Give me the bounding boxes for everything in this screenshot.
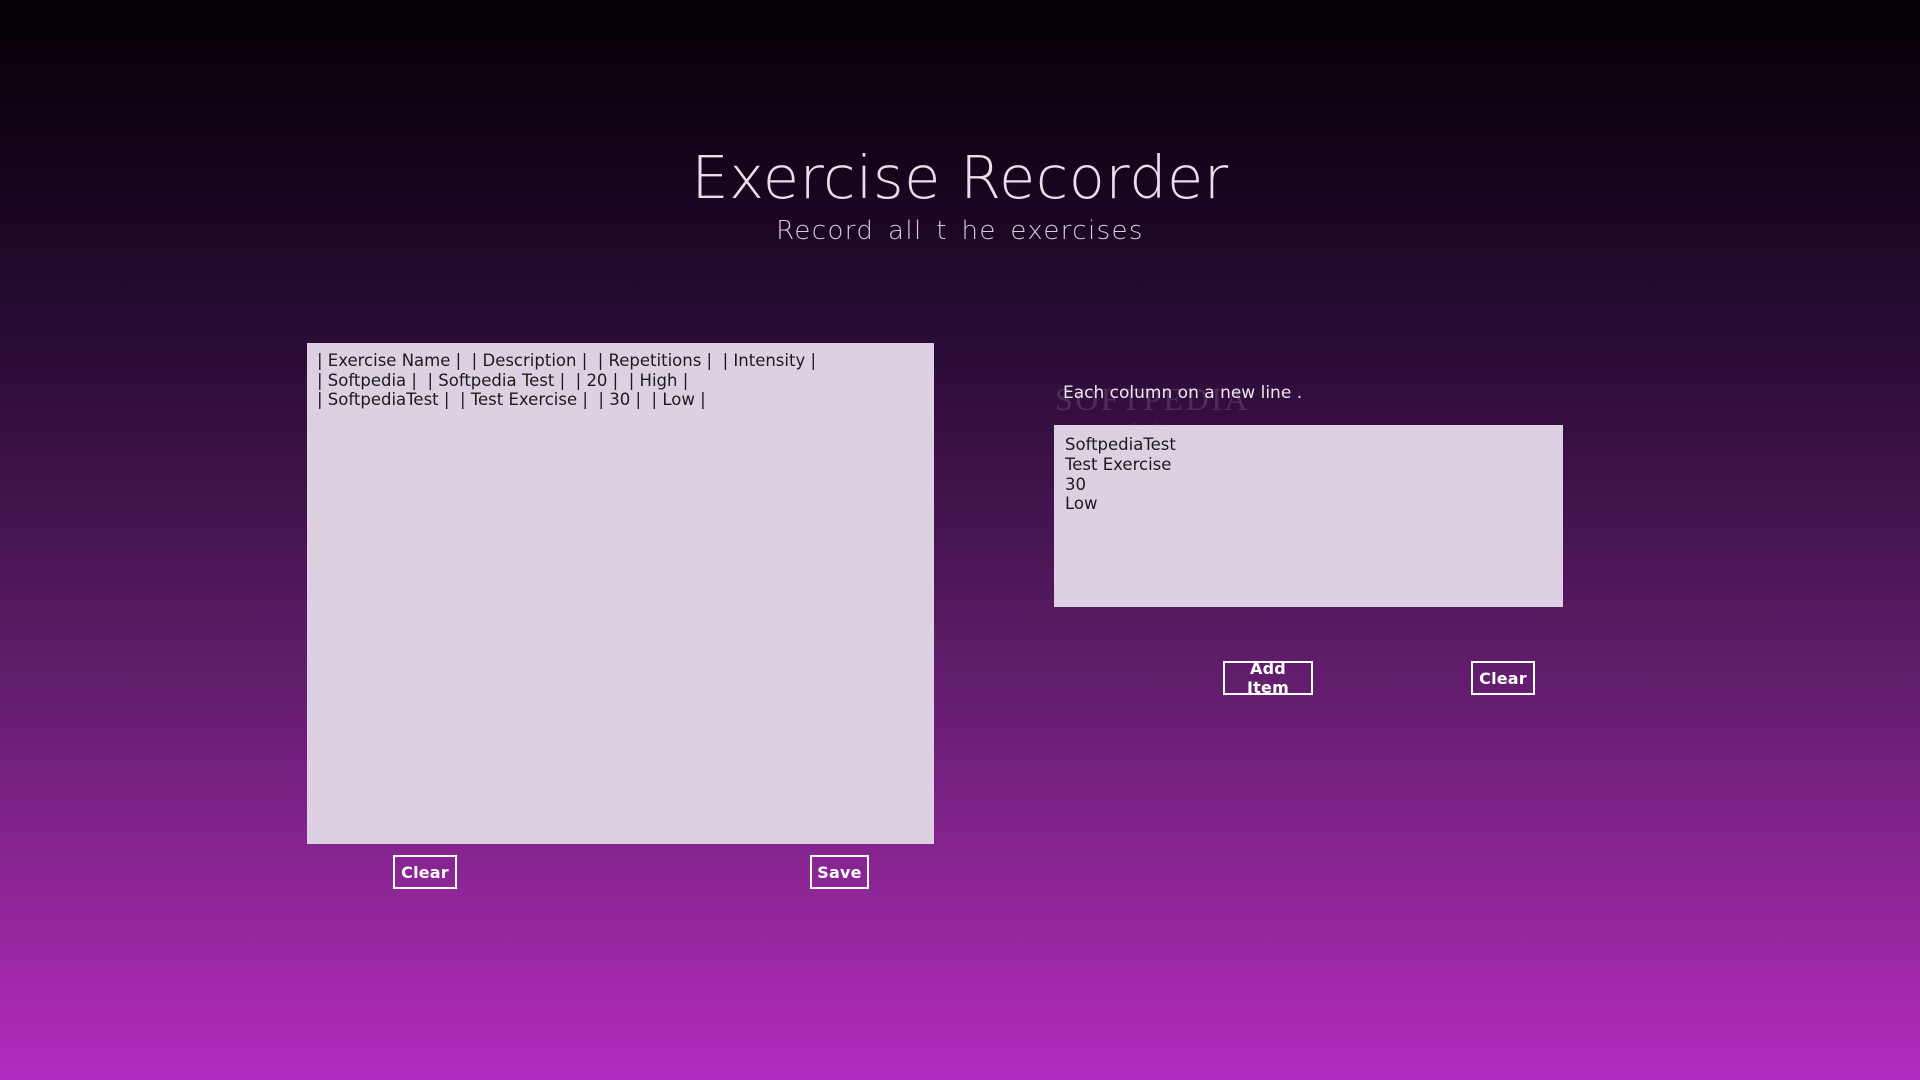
exercise-list-output-textarea[interactable]: | Exercise Name | | Description | | Repe… <box>307 343 934 844</box>
clear-input-button[interactable]: Clear <box>1471 661 1535 695</box>
new-item-input-textarea[interactable]: SoftpediaTest Test Exercise 30 Low <box>1054 425 1563 607</box>
new-item-instruction-label: Each column on a new line . <box>1063 383 1302 403</box>
add-item-button[interactable]: Add Item <box>1223 661 1313 695</box>
app-root: Exercise Recorder Record all t he exerci… <box>0 0 1920 1080</box>
save-button[interactable]: Save <box>810 855 869 889</box>
clear-output-button[interactable]: Clear <box>393 855 457 889</box>
page-title: Exercise Recorder <box>0 148 1920 207</box>
page-subtitle: Record all t he exercises <box>0 218 1920 244</box>
